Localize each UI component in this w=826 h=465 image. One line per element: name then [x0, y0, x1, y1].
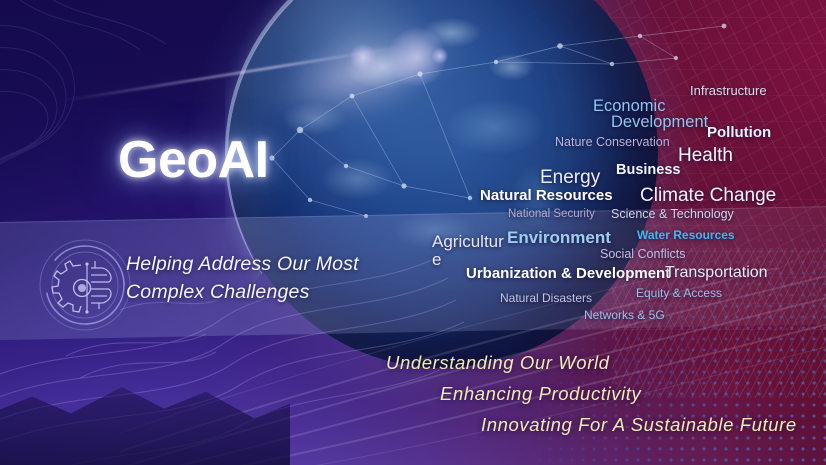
- word-cloud-term: National Security: [508, 209, 595, 221]
- word-cloud-term: Equity & Access: [636, 287, 722, 299]
- word-cloud-term: Natural Resources: [480, 188, 613, 203]
- word-cloud-term: Development: [611, 114, 708, 131]
- word-cloud-term: Nature Conservation: [555, 136, 670, 149]
- word-cloud-term: Business: [616, 163, 680, 178]
- geoai-slide: GeoAI Helping Address Our Most Complex C…: [0, 0, 826, 465]
- word-cloud-term: Transportation: [665, 265, 768, 281]
- word-cloud-term: Agricultur: [432, 233, 504, 250]
- word-cloud-term: Social Conflicts: [600, 248, 685, 261]
- word-cloud-term: Networks & 5G: [584, 309, 665, 321]
- word-cloud-term: Energy: [540, 168, 600, 187]
- word-cloud: InfrastructureEconomicDevelopmentPolluti…: [0, 0, 826, 465]
- word-cloud-term: Environment: [507, 229, 611, 246]
- word-cloud-term: Climate Change: [640, 186, 776, 205]
- word-cloud-term: Natural Disasters: [500, 292, 592, 304]
- word-cloud-term: Science & Technology: [611, 208, 734, 221]
- word-cloud-term: Pollution: [707, 125, 771, 140]
- word-cloud-term: Urbanization & Development: [466, 266, 670, 281]
- word-cloud-term: Infrastructure: [690, 84, 767, 97]
- word-cloud-term: Health: [678, 146, 733, 165]
- word-cloud-term: Water Resources: [637, 229, 735, 241]
- word-cloud-term: e: [432, 251, 441, 268]
